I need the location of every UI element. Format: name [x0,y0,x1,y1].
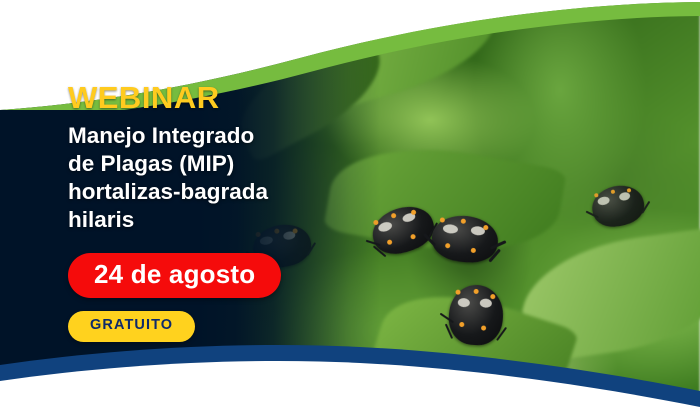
banner-content: WEBINAR Manejo Integrado de Plagas (MIP)… [68,82,368,342]
headline-line-1: Manejo Integrado [68,122,328,150]
headline-line-2: de Plagas (MIP) [68,150,328,178]
headline-line-4: hilaris [68,206,328,234]
free-badge[interactable]: GRATUITO [68,311,195,342]
headline-line-3: hortalizas-bagrada [68,178,328,206]
banner-headline: Manejo Integrado de Plagas (MIP) hortali… [68,122,328,234]
date-badge[interactable]: 24 de agosto [68,253,281,298]
webinar-promo-banner: WEBINAR Manejo Integrado de Plagas (MIP)… [0,0,700,409]
kicker-webinar: WEBINAR [68,82,368,113]
bagrada-bug-icon [447,283,505,347]
bagrada-bug-icon [430,213,500,266]
